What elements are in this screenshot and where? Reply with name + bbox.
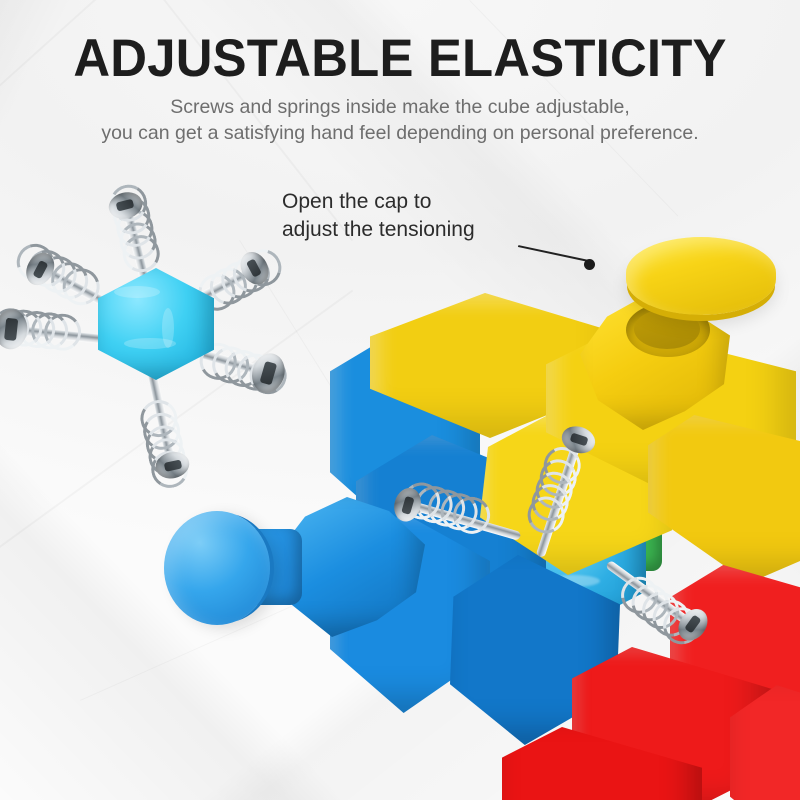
page-title: ADJUSTABLE ELASTICITY <box>16 28 784 89</box>
product-banner: ADJUSTABLE ELASTICITY Screws and springs… <box>0 0 800 800</box>
callout-leader-line-icon <box>518 245 589 262</box>
callout-text: Open the cap to adjust the tensioning <box>282 188 582 244</box>
exploded-cube-graphic <box>330 275 800 800</box>
core-assembly-graphic <box>0 170 300 480</box>
cube-yellow-center-cap <box>626 237 776 315</box>
callout-leader-dot-icon <box>584 259 595 270</box>
callout-line-2: adjust the tensioning <box>282 216 582 244</box>
callout-line-1: Open the cap to <box>282 188 582 216</box>
subtitle-line-1: Screws and springs inside make the cube … <box>0 95 800 120</box>
cube-blue-center-cap <box>164 511 270 625</box>
cube-face-yellow-piece <box>648 415 800 583</box>
subtitle-line-2: you can get a satisfying hand feel depen… <box>0 121 800 146</box>
cube-yellow-center-socket-bore <box>634 309 700 349</box>
